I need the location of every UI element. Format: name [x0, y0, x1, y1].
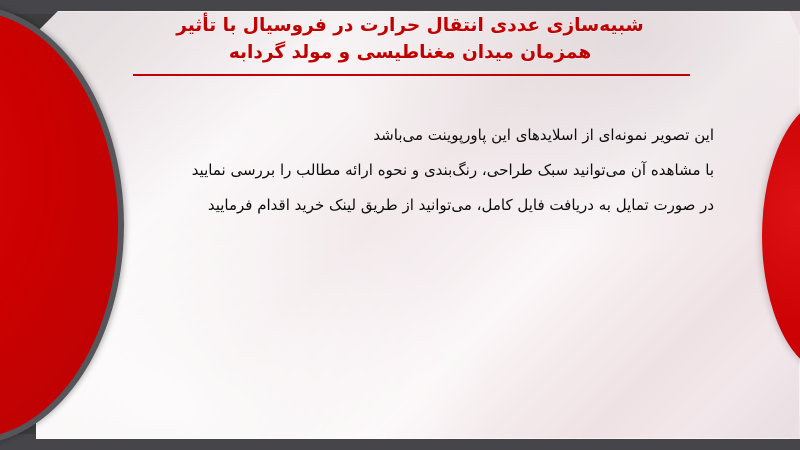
slide-title-line-2: همزمان میدان مغناطیسی و مولد گردابه	[120, 39, 700, 66]
slide-body-line-3: در صورت تمایل به دریافت فایل کامل، می‌تو…	[94, 188, 714, 223]
slide-title-line-1: شبیه‌سازی عددی انتقال حرارت در فروسیال ب…	[120, 12, 700, 39]
slide-body-line-1: این تصویر نمونه‌ای از اسلایدهای این پاور…	[94, 118, 714, 153]
title-underline	[133, 74, 690, 76]
slide-title: شبیه‌سازی عددی انتقال حرارت در فروسیال ب…	[120, 12, 700, 66]
slide-body-text: این تصویر نمونه‌ای از اسلایدهای این پاور…	[94, 118, 714, 223]
slide-body-line-2: با مشاهده آن می‌توانید سبک طراحی، رنگ‌بن…	[94, 153, 714, 188]
presentation-slide: شبیه‌سازی عددی انتقال حرارت در فروسیال ب…	[0, 0, 800, 450]
